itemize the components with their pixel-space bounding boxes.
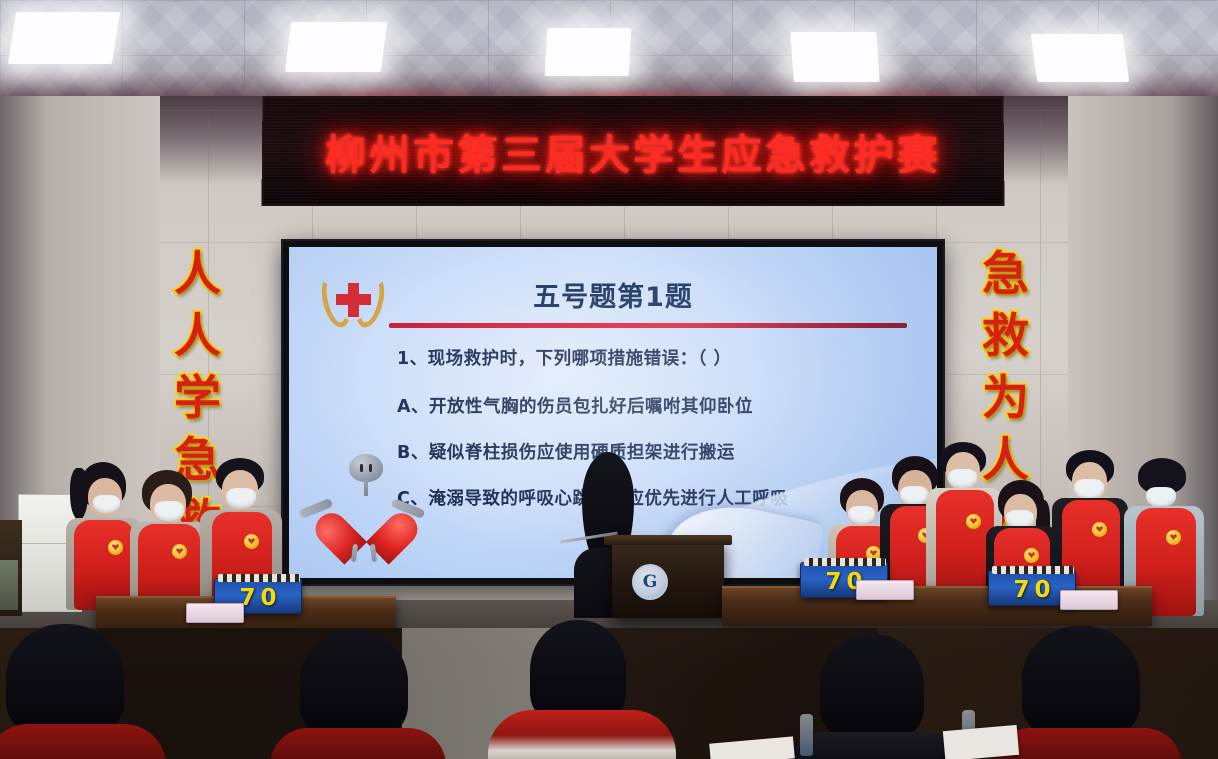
led-banner: 柳州市第三届大学生应急救护赛 xyxy=(262,96,1005,206)
team-placard-left xyxy=(186,603,244,623)
scoreboard-flip-pegs xyxy=(218,574,300,582)
podium-top-surface xyxy=(604,535,732,545)
slide-title: 五号题第1题 xyxy=(289,275,937,314)
ponytail xyxy=(70,468,88,520)
mascot-leg-left xyxy=(351,544,358,562)
audience-head-5 xyxy=(1022,626,1140,738)
team-placard-right xyxy=(1060,590,1118,610)
question-stem: 1、现场救护时，下列哪项措施错误：（ ） xyxy=(397,345,732,370)
audience-shoulder-1 xyxy=(0,724,166,759)
score-digit-ones: 0 xyxy=(1035,579,1051,602)
vest-badge-icon xyxy=(244,534,259,549)
audience-head-4 xyxy=(820,634,924,740)
audience-shoulder-5 xyxy=(992,728,1182,759)
question-option-a: A、开放性气胸的伤员包扎好后嘱咐其仰卧位 xyxy=(397,393,753,418)
face-mask xyxy=(226,488,256,508)
face-mask xyxy=(1146,487,1176,507)
question-option-b: B、疑似脊柱损伤应使用硬质担架进行搬运 xyxy=(397,439,735,464)
water-bottle-1 xyxy=(800,714,813,756)
mascot-heart-body xyxy=(335,492,397,548)
face-mask xyxy=(154,501,184,521)
podium: G xyxy=(612,540,724,618)
score-digit-ones: 0 xyxy=(261,587,277,610)
heart-mascot-icon xyxy=(303,452,423,562)
audience-shoulder-2 xyxy=(270,728,446,759)
face-mask xyxy=(848,506,875,524)
mascot-eye-right xyxy=(369,464,372,472)
vest-badge-icon xyxy=(172,544,187,559)
wall-vent xyxy=(0,560,18,610)
face-mask xyxy=(900,486,928,505)
scoreboard-flip-pegs xyxy=(804,558,886,566)
mascot-head xyxy=(349,454,383,482)
scoreboard-flip-pegs xyxy=(992,566,1074,574)
audience-shoulder-4 xyxy=(790,732,958,759)
vest-badge-icon xyxy=(966,514,981,529)
audience-head-2 xyxy=(300,630,408,738)
face-mask xyxy=(93,495,120,513)
led-banner-text: 柳州市第三届大学生应急救护赛 xyxy=(325,121,941,181)
audience-foreground xyxy=(0,628,1218,759)
mascot-eye-left xyxy=(360,464,363,472)
vest-badge-icon xyxy=(108,540,123,555)
score-digit-tens: 7 xyxy=(1013,579,1029,602)
face-mask xyxy=(948,469,977,488)
competition-hall-photo: 柳州市第三届大学生应急救护赛 人人学急救 急救为人人 五号题第1题 1、现场救护… xyxy=(0,0,1218,759)
team-placard-mid xyxy=(856,580,914,600)
paper-sheet-2 xyxy=(943,725,1019,759)
face-mask xyxy=(1074,479,1104,499)
vest-badge-icon xyxy=(1024,548,1039,563)
audience-shoulder-3 xyxy=(488,710,676,759)
audience-head-3 xyxy=(530,620,626,724)
score-digit-tens: 7 xyxy=(825,571,841,594)
title-underline-rule xyxy=(389,323,907,328)
vest-badge-icon xyxy=(1166,530,1181,545)
ceiling-panel-light-1 xyxy=(8,12,120,64)
audience-head-1 xyxy=(6,624,124,736)
vest-badge-icon xyxy=(1092,522,1107,537)
institution-emblem: G xyxy=(632,564,668,600)
